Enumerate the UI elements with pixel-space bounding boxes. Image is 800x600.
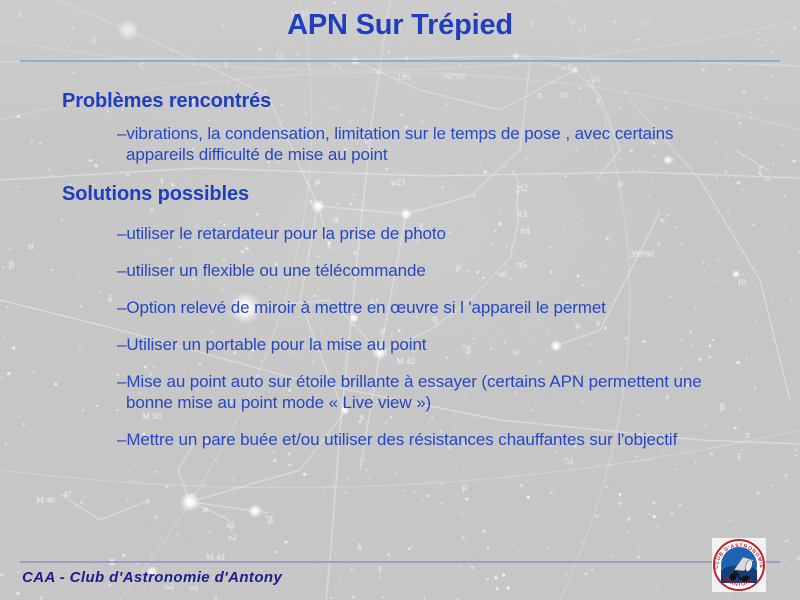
group-heading: Solutions possibles [62, 181, 800, 207]
list-item: –Mise au point auto sur étoile brillante… [117, 371, 740, 413]
content-group-solutions: Solutions possibles –utiliser le retarda… [0, 181, 800, 450]
title-area: APN Sur Trépied [0, 8, 800, 42]
bullet-list: –utiliser le retardateur pour la prise d… [0, 223, 800, 450]
list-item: –Mettre un pare buée et/ou utiliser des … [117, 429, 740, 450]
content-group-problemes: Problèmes rencontrés –vibrations, la con… [0, 88, 800, 165]
presentation-slide: APN Sur Trépied Problèmes rencontrés –vi… [0, 0, 800, 600]
club-logo: CLUB D'ASTRONOMIE D'ANTONY [710, 537, 768, 593]
page-title: APN Sur Trépied [287, 8, 513, 42]
footer-text: CAA - Club d'Astronomie d'Antony [22, 569, 282, 586]
slide-body: Problèmes rencontrés –vibrations, la con… [0, 88, 800, 450]
list-item: –vibrations, la condensation, limitation… [117, 123, 740, 165]
list-item: –Utiliser un portable pour la mise au po… [117, 334, 740, 355]
bullet-list: –vibrations, la condensation, limitation… [0, 123, 800, 165]
footer-divider [20, 561, 780, 563]
list-item: –Option relevé de miroir à mettre en œuv… [117, 297, 740, 318]
list-item: –utiliser le retardateur pour la prise d… [117, 223, 740, 244]
title-divider [20, 60, 780, 62]
group-heading: Problèmes rencontrés [62, 88, 800, 114]
club-logo-badge: CLUB D'ASTRONOMIE D'ANTONY [710, 537, 768, 593]
list-item: –utiliser un flexible ou une télécommand… [117, 260, 740, 281]
